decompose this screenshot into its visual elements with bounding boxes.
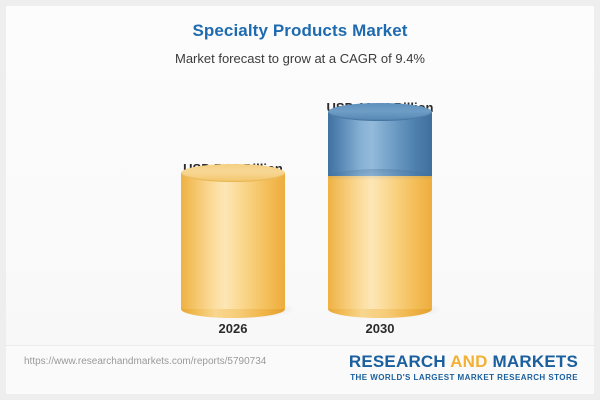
chart-subtitle: Market forecast to grow at a CAGR of 9.4… [6, 50, 594, 68]
bar-segment-seam-2030 [328, 169, 432, 185]
infographic-body: Specialty Products Market Market forecas… [6, 6, 594, 394]
brand-logo-word-research: RESEARCH [349, 352, 450, 371]
brand-logo-tagline: THE WORLD'S LARGEST MARKET RESEARCH STOR… [349, 373, 578, 382]
chart-plot-area: USD 7.35 Billion 2026 USD 10.54 Billion [6, 91, 594, 336]
market-forecast-infographic: Specialty Products Market Market forecas… [0, 0, 600, 400]
bar-segment-growth-2030 [328, 112, 432, 176]
source-url[interactable]: https://www.researchandmarkets.com/repor… [24, 356, 266, 367]
x-axis-label-2030: 2030 [322, 321, 438, 336]
bar-top-cap-2026 [181, 164, 285, 182]
brand-logo-word-markets: MARKETS [488, 352, 578, 371]
bar-segment-base-2026 [181, 173, 285, 309]
bar-cylinder-2030[interactable] [328, 112, 432, 309]
brand-logo-wordmark: RESEARCH AND MARKETS [349, 352, 578, 372]
brand-logo[interactable]: RESEARCH AND MARKETS THE WORLD'S LARGEST… [349, 352, 578, 382]
chart-title: Specialty Products Market [6, 20, 594, 42]
bar-top-cap-2030 [328, 103, 432, 121]
brand-logo-word-and: AND [450, 352, 487, 371]
bar-cylinder-2026[interactable] [181, 173, 285, 309]
bar-segment-base-2030 [328, 176, 432, 309]
chart-header: Specialty Products Market Market forecas… [6, 20, 594, 68]
chart-footer: https://www.researchandmarkets.com/repor… [6, 345, 594, 394]
x-axis-label-2026: 2026 [175, 321, 291, 336]
